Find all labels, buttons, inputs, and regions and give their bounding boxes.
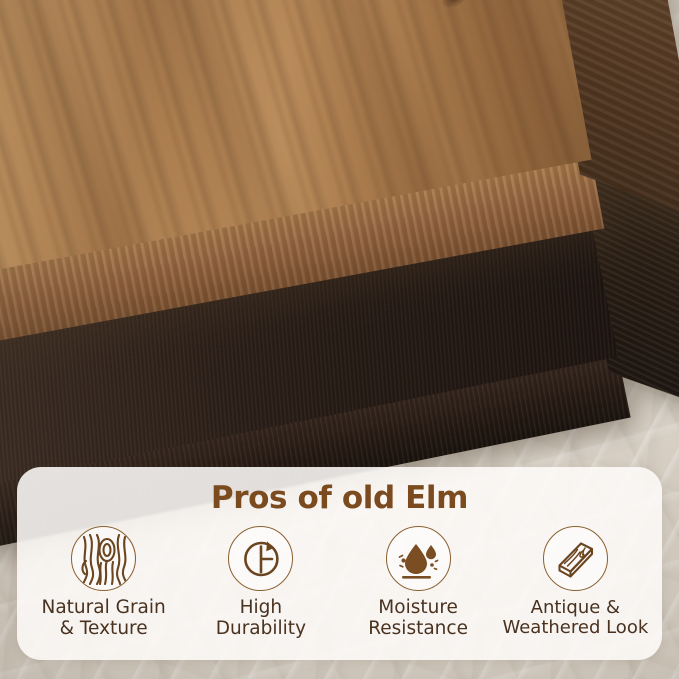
- feature-label-high-durability: High Durability: [216, 598, 306, 640]
- clock-rotate-icon: [228, 526, 293, 591]
- water-droplet-icon: [386, 526, 451, 591]
- feature-label-antique-weathered: Antique & Weathered Look: [502, 598, 648, 639]
- feature-label-moisture-resistance: Moisture Resistance: [368, 598, 468, 640]
- feature-high-durability: High Durability: [182, 526, 339, 640]
- pros-info-card: Pros of old Elm: [17, 467, 662, 660]
- feature-antique-weathered: Antique & Weathered Look: [497, 526, 654, 640]
- feature-natural-grain: Natural Grain & Texture: [25, 526, 182, 640]
- product-image-canvas: Pros of old Elm: [0, 0, 679, 679]
- feature-moisture-resistance: Moisture Resistance: [340, 526, 497, 640]
- wood-grain-icon: [71, 526, 136, 591]
- wood-plank-icon: [543, 526, 608, 591]
- feature-list: Natural Grain & Texture High Durability: [17, 526, 662, 640]
- feature-label-natural-grain: Natural Grain & Texture: [41, 598, 165, 640]
- card-title: Pros of old Elm: [17, 480, 662, 516]
